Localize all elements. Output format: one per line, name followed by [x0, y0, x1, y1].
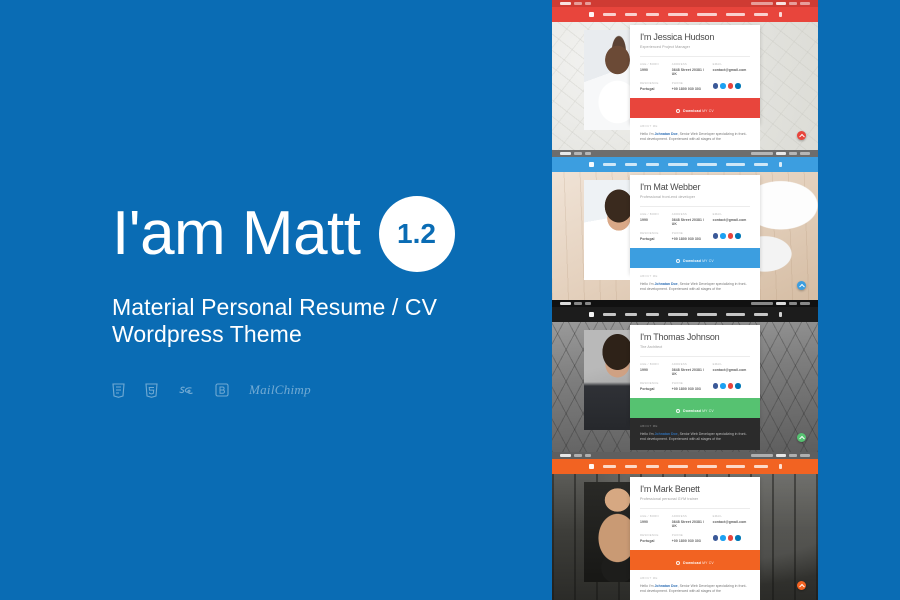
- google-plus-icon[interactable]: [728, 83, 734, 89]
- nav-item-contact[interactable]: [754, 13, 768, 16]
- twitter-icon[interactable]: [720, 83, 726, 89]
- page-title: I'am Matt: [112, 203, 361, 265]
- nav-home-icon[interactable]: [589, 12, 594, 17]
- divider: [640, 206, 750, 207]
- nav-item-testimonial[interactable]: [697, 465, 717, 468]
- linkedin-icon[interactable]: [735, 233, 741, 239]
- twitter-icon[interactable]: [720, 383, 726, 389]
- nav-home-icon[interactable]: [589, 312, 594, 317]
- theme-preview-blue[interactable]: I'm Mat Webber Professional front-end de…: [552, 150, 818, 300]
- facebook-icon[interactable]: [713, 383, 719, 389]
- info-item-address: ADDRESS 3648 Street 20381 / UK: [672, 363, 707, 376]
- info-item-phone: PHONE +00 1800 030 303: [672, 232, 707, 241]
- scroll-action-button[interactable]: [797, 433, 806, 442]
- profile-name: I'm Thomas Johnson: [640, 333, 750, 343]
- info-item-address: ADDRESS 3648 Street 20381 / UK: [672, 213, 707, 226]
- info-item-age: AGE / BORN 1990: [640, 213, 666, 226]
- info-item-address: ADDRESS 3648 Street 20381 / UK: [672, 63, 707, 76]
- social-links[interactable]: [713, 535, 750, 543]
- nav-item-contact[interactable]: [754, 313, 768, 316]
- info-item-phone: PHONE +00 1800 030 303: [672, 534, 707, 543]
- nav-menu-icon[interactable]: [779, 12, 782, 17]
- google-plus-icon[interactable]: [728, 383, 734, 389]
- main-navigation[interactable]: [552, 157, 818, 172]
- version-badge: 1.2: [379, 196, 455, 272]
- download-icon: [676, 259, 680, 263]
- nav-item-testimonial[interactable]: [697, 163, 717, 166]
- resume-card: I'm Thomas Johnson The Architect AGE / B…: [630, 325, 760, 424]
- facebook-icon[interactable]: [713, 83, 719, 89]
- divider: [640, 508, 750, 509]
- utility-left-links[interactable]: [560, 2, 591, 5]
- resume-card: I'm Jessica Hudson Experienced Project M…: [630, 25, 760, 124]
- linkedin-icon[interactable]: [735, 535, 741, 541]
- nav-item-portfolio[interactable]: [668, 13, 688, 16]
- about-text: Hello I'm Johnatan Doe, Senior Web Devel…: [640, 132, 750, 143]
- divider: [640, 356, 750, 357]
- utility-left-links[interactable]: [560, 152, 591, 155]
- nav-item-latest-posts[interactable]: [726, 163, 745, 166]
- nav-item-resume[interactable]: [646, 163, 659, 166]
- nav-item-testimonial[interactable]: [697, 13, 717, 16]
- info-item-age: AGE / BORN 1990: [640, 63, 666, 76]
- profile-name: I'm Jessica Hudson: [640, 33, 750, 43]
- nav-item-about[interactable]: [603, 163, 616, 166]
- css3-icon: [145, 383, 158, 398]
- nav-item-contact[interactable]: [754, 163, 768, 166]
- utility-bar: [552, 452, 818, 459]
- theme-preview-dark-green[interactable]: I'm Thomas Johnson The Architect AGE / B…: [552, 300, 818, 452]
- info-item-residence: RESIDENCE Portugal: [640, 232, 666, 241]
- utility-right-links[interactable]: [751, 302, 810, 305]
- utility-bar: [552, 150, 818, 157]
- profile-info-grid: AGE / BORN 1990 ADDRESS 3648 Street 2038…: [640, 363, 750, 391]
- nav-item-portfolio[interactable]: [668, 465, 688, 468]
- about-section: ABOUT ME Hello I'm Johnatan Doe, Senior …: [630, 570, 760, 600]
- info-item-residence: RESIDENCE Portugal: [640, 82, 666, 91]
- info-item-age: AGE / BORN 1990: [640, 515, 666, 528]
- scroll-action-button[interactable]: [797, 581, 806, 590]
- profile-role: Experienced Project Manager: [640, 45, 750, 49]
- profile-name: I'm Mark Benett: [640, 485, 750, 495]
- profile-role: Professional personal GYM trainer: [640, 497, 750, 501]
- social-links[interactable]: [713, 83, 750, 91]
- nav-item-skills[interactable]: [625, 313, 637, 316]
- mailchimp-icon: MailChimp: [249, 382, 311, 398]
- scroll-action-button[interactable]: [797, 131, 806, 140]
- download-icon: [676, 561, 680, 565]
- version-badge-label: 1.2: [397, 218, 436, 250]
- theme-preview-red[interactable]: I'm Jessica Hudson Experienced Project M…: [552, 0, 818, 150]
- download-icon: [676, 409, 680, 413]
- social-links[interactable]: [713, 233, 750, 241]
- profile-role: Professional front-end developer: [640, 195, 750, 199]
- main-navigation[interactable]: [552, 7, 818, 22]
- info-item-address: ADDRESS 3648 Street 20381 / UK: [672, 515, 707, 528]
- tech-icon-row: MailChimp: [112, 382, 512, 398]
- nav-item-about[interactable]: [603, 313, 616, 316]
- nav-item-about[interactable]: [603, 465, 616, 468]
- info-item-phone: PHONE +00 1800 030 303: [672, 382, 707, 391]
- utility-left-links[interactable]: [560, 454, 591, 457]
- profile-info-grid: AGE / BORN 1990 ADDRESS 3648 Street 2038…: [640, 213, 750, 241]
- about-text: Hello I'm Johnatan Doe, Senior Web Devel…: [640, 432, 750, 443]
- download-icon: [676, 109, 680, 113]
- twitter-icon[interactable]: [720, 233, 726, 239]
- about-text: Hello I'm Johnatan Doe, Senior Web Devel…: [640, 584, 750, 595]
- about-section: ABOUT ME Hello I'm Johnatan Doe, Senior …: [630, 418, 760, 450]
- about-section: ABOUT ME Hello I'm Johnatan Doe, Senior …: [630, 118, 760, 150]
- nav-item-testimonial[interactable]: [697, 313, 717, 316]
- nav-item-skills[interactable]: [625, 13, 637, 16]
- info-item-age: AGE / BORN 1990: [640, 363, 666, 376]
- info-item-email: EMAIL contact@gmail.com: [713, 363, 750, 376]
- page-subtitle: Material Personal Resume / CV Wordpress …: [112, 294, 512, 348]
- info-item-email: EMAIL contact@gmail.com: [713, 515, 750, 528]
- facebook-icon[interactable]: [713, 535, 719, 541]
- nav-item-skills[interactable]: [625, 163, 637, 166]
- profile-info-grid: AGE / BORN 1990 ADDRESS 3648 Street 2038…: [640, 515, 750, 543]
- resume-card: I'm Mat Webber Professional front-end de…: [630, 175, 760, 274]
- nav-item-portfolio[interactable]: [668, 163, 688, 166]
- promo-content: I'am Matt 1.2 Material Personal Resume /…: [112, 196, 512, 398]
- social-links[interactable]: [713, 383, 750, 391]
- nav-item-portfolio[interactable]: [668, 313, 688, 316]
- nav-menu-icon[interactable]: [779, 312, 782, 317]
- utility-right-links[interactable]: [751, 454, 810, 457]
- google-plus-icon[interactable]: [728, 535, 734, 541]
- nav-item-resume[interactable]: [646, 313, 659, 316]
- nav-item-latest-posts[interactable]: [726, 13, 745, 16]
- nav-item-latest-posts[interactable]: [726, 465, 745, 468]
- utility-left-links[interactable]: [560, 302, 591, 305]
- nav-item-about[interactable]: [603, 13, 616, 16]
- theme-preview-orange[interactable]: I'm Mark Benett Professional personal GY…: [552, 452, 818, 600]
- sass-icon: [178, 384, 195, 396]
- scroll-action-button[interactable]: [797, 281, 806, 290]
- google-plus-icon[interactable]: [728, 233, 734, 239]
- facebook-icon[interactable]: [713, 233, 719, 239]
- linkedin-icon[interactable]: [735, 83, 741, 89]
- resume-card: I'm Mark Benett Professional personal GY…: [630, 477, 760, 576]
- html5-icon: [112, 383, 125, 398]
- info-item-email: EMAIL contact@gmail.com: [713, 213, 750, 226]
- nav-item-skills[interactable]: [625, 465, 637, 468]
- nav-item-latest-posts[interactable]: [726, 313, 745, 316]
- info-item-email: EMAIL contact@gmail.com: [713, 63, 750, 76]
- main-navigation[interactable]: [552, 459, 818, 474]
- profile-name: I'm Mat Webber: [640, 183, 750, 193]
- bootstrap-icon: [215, 383, 229, 397]
- divider: [640, 56, 750, 57]
- info-item-residence: RESIDENCE Portugal: [640, 382, 666, 391]
- nav-home-icon[interactable]: [589, 464, 594, 469]
- twitter-icon[interactable]: [720, 535, 726, 541]
- utility-bar: [552, 0, 818, 7]
- about-section: ABOUT ME Hello I'm Johnatan Doe, Senior …: [630, 268, 760, 300]
- info-item-phone: PHONE +00 1800 030 303: [672, 82, 707, 91]
- nav-menu-icon[interactable]: [779, 464, 782, 469]
- main-navigation[interactable]: [552, 307, 818, 322]
- nav-menu-icon[interactable]: [779, 162, 782, 167]
- profile-info-grid: AGE / BORN 1990 ADDRESS 3648 Street 2038…: [640, 63, 750, 91]
- about-text: Hello I'm Johnatan Doe, Senior Web Devel…: [640, 282, 750, 293]
- title-row: I'am Matt 1.2: [112, 196, 512, 272]
- nav-item-contact[interactable]: [754, 465, 768, 468]
- utility-bar: [552, 300, 818, 307]
- utility-right-links[interactable]: [751, 152, 810, 155]
- theme-preview-stack: I'm Jessica Hudson Experienced Project M…: [552, 0, 818, 600]
- nav-home-icon[interactable]: [589, 162, 594, 167]
- info-item-residence: RESIDENCE Portugal: [640, 534, 666, 543]
- profile-role: The Architect: [640, 345, 750, 349]
- promo-panel: I'am Matt 1.2 Material Personal Resume /…: [0, 0, 552, 600]
- utility-right-links[interactable]: [751, 2, 810, 5]
- nav-item-resume[interactable]: [646, 13, 659, 16]
- linkedin-icon[interactable]: [735, 383, 741, 389]
- nav-item-resume[interactable]: [646, 465, 659, 468]
